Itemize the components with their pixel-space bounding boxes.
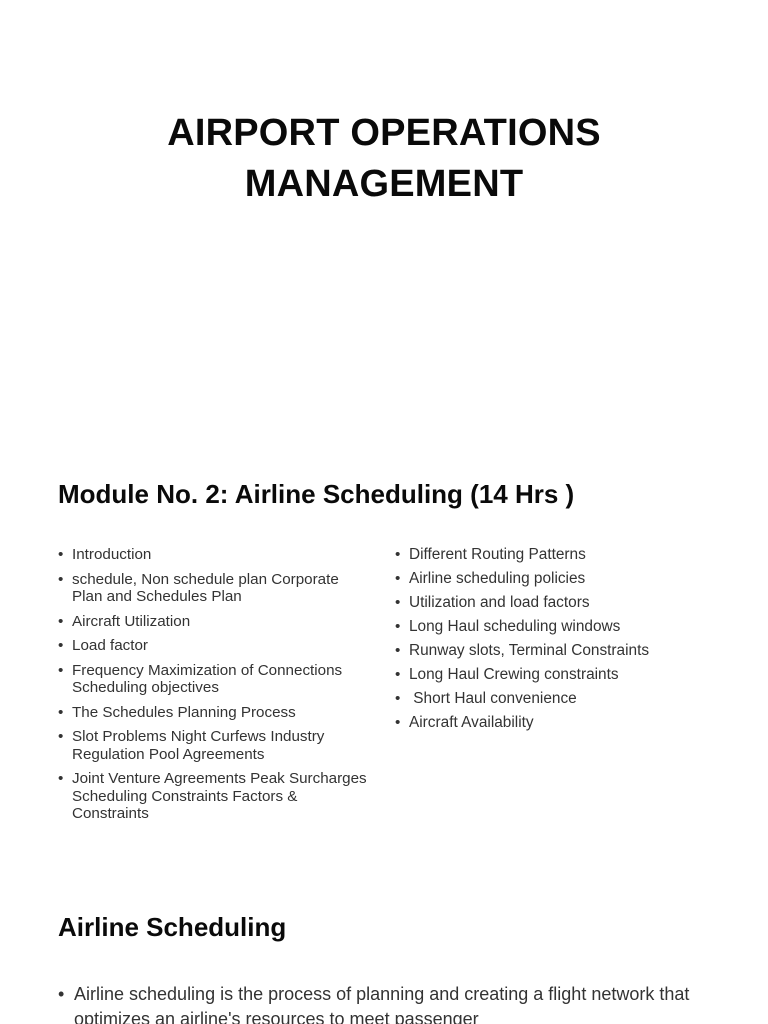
airline-scheduling-body: Airline scheduling is the process of pla… <box>57 982 717 1024</box>
module-heading: Module No. 2: Airline Scheduling (14 Hrs… <box>58 478 718 510</box>
list-item: Frequency Maximization of Connections Sc… <box>57 662 369 697</box>
list-item: Long Haul scheduling windows <box>394 618 700 636</box>
list-item: Joint Venture Agreements Peak Surcharges… <box>57 770 369 823</box>
list-item: Aircraft Availability <box>394 714 700 732</box>
list-item: Short Haul convenience <box>394 690 700 708</box>
list-item: Aircraft Utilization <box>57 613 369 631</box>
page-title: AIRPORT OPERATIONS MANAGEMENT <box>0 108 768 210</box>
list-item: Utilization and load factors <box>394 594 700 612</box>
document-page: AIRPORT OPERATIONS MANAGEMENT Module No.… <box>0 0 768 1024</box>
section-heading-airline-scheduling: Airline Scheduling <box>58 910 718 944</box>
list-item: Runway slots, Terminal Constraints <box>394 642 700 660</box>
left-bullet-list: Introduction schedule, Non schedule plan… <box>57 546 369 823</box>
list-item: The Schedules Planning Process <box>57 704 369 722</box>
list-item: Different Routing Patterns <box>394 546 700 564</box>
list-item: Airline scheduling policies <box>394 570 700 588</box>
module-outline-left-column: Introduction schedule, Non schedule plan… <box>57 546 369 830</box>
body-bullet-list: Airline scheduling is the process of pla… <box>57 982 717 1024</box>
list-item: Long Haul Crewing constraints <box>394 666 700 684</box>
list-item: Load factor <box>57 637 369 655</box>
page-title-line-2: MANAGEMENT <box>0 159 768 210</box>
list-item: Airline scheduling is the process of pla… <box>57 982 717 1024</box>
page-title-line-1: AIRPORT OPERATIONS <box>0 108 768 159</box>
list-item: schedule, Non schedule plan Corporate Pl… <box>57 571 369 606</box>
module-outline-right-column: Different Routing Patterns Airline sched… <box>394 546 700 738</box>
list-item: Introduction <box>57 546 369 564</box>
list-item: Slot Problems Night Curfews Industry Reg… <box>57 728 369 763</box>
right-bullet-list: Different Routing Patterns Airline sched… <box>394 546 700 732</box>
